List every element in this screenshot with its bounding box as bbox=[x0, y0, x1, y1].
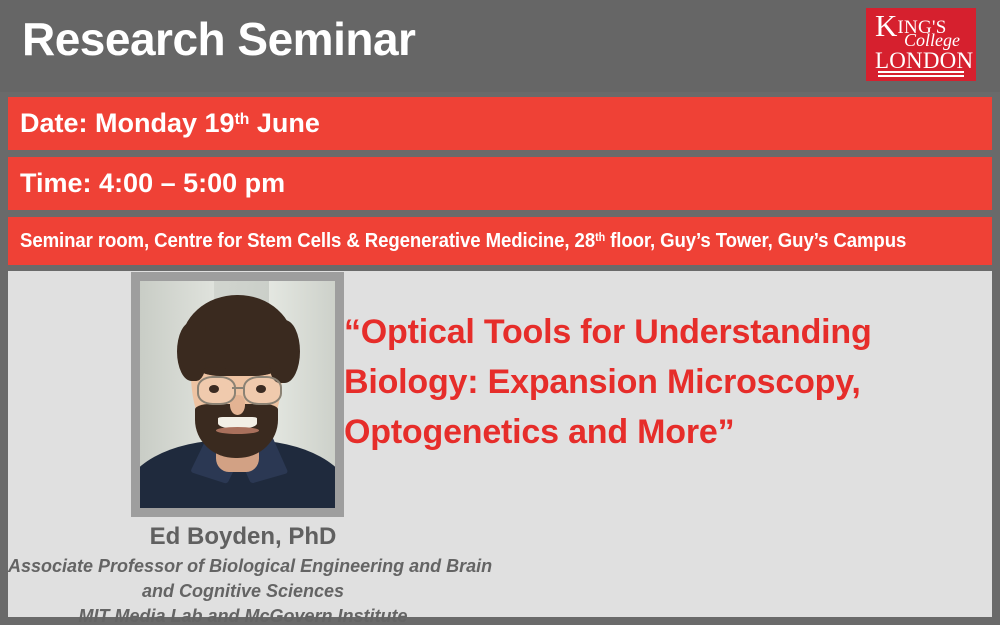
time-value: 4:00 – 5:00 pm bbox=[99, 168, 285, 198]
date-text: Date: Monday 19th June bbox=[20, 97, 320, 150]
date-value-suffix: June bbox=[257, 108, 320, 138]
photo-eyebrow-right bbox=[247, 367, 272, 375]
talk-title: “Optical Tools for Understanding Biology… bbox=[344, 307, 974, 457]
speaker-affiliation-line-2: and Cognitive Sciences bbox=[8, 579, 478, 604]
venue-ordinal-suffix: th bbox=[595, 231, 605, 244]
talk-title-line-3: Optogenetics and More” bbox=[344, 407, 974, 457]
date-label: Date: bbox=[20, 108, 88, 138]
talk-title-line-2: Biology: Expansion Microscopy, bbox=[344, 357, 974, 407]
time-label: Time: bbox=[20, 168, 92, 198]
speaker-affiliation-line-1: Associate Professor of Biological Engine… bbox=[8, 554, 478, 579]
speaker-photo-frame bbox=[131, 272, 344, 517]
logo-rule-top bbox=[878, 71, 964, 73]
page-title: Research Seminar bbox=[22, 14, 415, 65]
time-band: Time: 4:00 – 5:00 pm bbox=[8, 157, 992, 210]
time-text: Time: 4:00 – 5:00 pm bbox=[20, 157, 285, 210]
venue-suffix: floor, Guy’s Tower, Guy’s Campus bbox=[610, 230, 906, 252]
logo-initial-k: K bbox=[875, 8, 897, 43]
poster-header: Research Seminar KING'S College LONDON bbox=[0, 0, 1000, 92]
poster-body: “Optical Tools for Understanding Biology… bbox=[8, 271, 992, 617]
speaker-affiliation: Associate Professor of Biological Engine… bbox=[8, 554, 478, 625]
photo-hair-right bbox=[269, 320, 300, 384]
venue-band: Seminar room, Centre for Stem Cells & Re… bbox=[8, 217, 992, 265]
date-value-prefix: Monday 19 bbox=[95, 108, 235, 138]
logo-rule-bottom bbox=[878, 75, 964, 77]
venue-prefix: Seminar room, Centre for Stem Cells & Re… bbox=[20, 230, 595, 252]
speaker-affiliation-line-3: MIT Media Lab and McGovern Institute bbox=[8, 604, 478, 625]
seminar-poster: Research Seminar KING'S College LONDON D… bbox=[0, 0, 1000, 625]
speaker-photo bbox=[140, 281, 335, 508]
date-band: Date: Monday 19th June bbox=[8, 97, 992, 150]
kings-college-london-logo: KING'S College LONDON bbox=[866, 8, 976, 81]
talk-title-line-1: “Optical Tools for Understanding bbox=[344, 307, 974, 357]
date-ordinal-suffix: th bbox=[235, 111, 250, 128]
speaker-name: Ed Boyden, PhD bbox=[8, 523, 478, 551]
photo-glasses-bridge bbox=[232, 387, 244, 389]
venue-text: Seminar room, Centre for Stem Cells & Re… bbox=[20, 217, 906, 265]
